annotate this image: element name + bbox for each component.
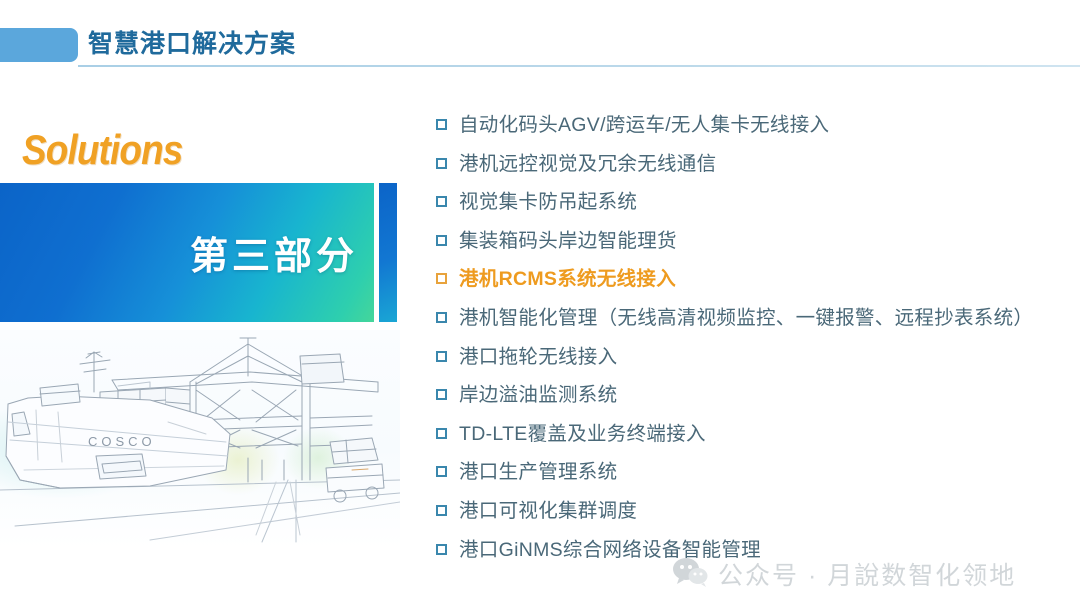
list-item-label: 集装箱码头岸边智能理货	[459, 228, 677, 254]
cosco-ship-crane-sketch-icon: COSCO	[0, 330, 400, 548]
list-item[interactable]: 港口拖轮无线接入	[436, 344, 1066, 383]
square-outline-icon	[436, 389, 447, 400]
list-item-label: 自动化码头AGV/跨运车/无人集卡无线接入	[459, 112, 829, 138]
list-item-label: 港口可视化集群调度	[459, 498, 637, 524]
square-outline-icon	[436, 505, 447, 516]
square-outline-icon	[436, 273, 447, 284]
solutions-list: 自动化码头AGV/跨运车/无人集卡无线接入 港机远控视觉及冗余无线通信 视觉集卡…	[436, 112, 1066, 575]
list-item[interactable]: 视觉集卡防吊起系统	[436, 189, 1066, 228]
square-outline-icon	[436, 196, 447, 207]
list-item[interactable]: 港机智能化管理（无线高清视频监控、一键报警、远程抄表系统）	[436, 305, 1066, 344]
section-banner: 第三部分	[0, 183, 374, 322]
list-item-label: 视觉集卡防吊起系统	[459, 189, 637, 215]
list-item[interactable]: 岸边溢油监测系统	[436, 382, 1066, 421]
list-item-label: 港机RCMS系统无线接入	[459, 266, 676, 292]
list-item[interactable]: 港口生产管理系统	[436, 459, 1066, 498]
port-ship-illustration: COSCO	[0, 330, 400, 548]
section-english-word: Solutions	[22, 126, 182, 174]
square-outline-icon	[436, 312, 447, 323]
wechat-icon	[672, 557, 708, 592]
list-item-label: 港机远控视觉及冗余无线通信	[459, 151, 716, 177]
square-outline-icon	[436, 544, 447, 555]
list-item-label: TD-LTE覆盖及业务终端接入	[459, 421, 706, 447]
list-item[interactable]: 港口可视化集群调度	[436, 498, 1066, 537]
list-item[interactable]: 集装箱码头岸边智能理货	[436, 228, 1066, 267]
list-item[interactable]: 自动化码头AGV/跨运车/无人集卡无线接入	[436, 112, 1066, 151]
list-item-highlighted[interactable]: 港机RCMS系统无线接入	[436, 266, 1066, 305]
square-outline-icon	[436, 158, 447, 169]
list-item[interactable]: TD-LTE覆盖及业务终端接入	[436, 421, 1066, 460]
list-item-label: 岸边溢油监测系统	[459, 382, 617, 408]
section-banner-label: 第三部分	[190, 225, 374, 280]
square-outline-icon	[436, 119, 447, 130]
page-title: 智慧港口解决方案	[88, 24, 296, 60]
list-item-label: 港机智能化管理（无线高清视频监控、一键报警、远程抄表系统）	[459, 305, 1033, 331]
square-outline-icon	[436, 428, 447, 439]
square-outline-icon	[436, 351, 447, 362]
page-header: 智慧港口解决方案	[0, 0, 1080, 72]
square-outline-icon	[436, 466, 447, 477]
svg-text:COSCO: COSCO	[88, 434, 156, 449]
list-item-label: 港口拖轮无线接入	[459, 344, 617, 370]
watermark-label: 公众号 · 月說数智化领地	[718, 556, 1016, 592]
square-outline-icon	[436, 235, 447, 246]
header-divider	[78, 65, 1080, 67]
list-item-label: 港口生产管理系统	[459, 459, 617, 485]
list-item[interactable]: 港机远控视觉及冗余无线通信	[436, 151, 1066, 190]
section-banner-side-strip	[379, 183, 397, 322]
header-accent-tab	[0, 28, 78, 62]
watermark: 公众号 · 月說数智化领地	[672, 556, 1016, 592]
